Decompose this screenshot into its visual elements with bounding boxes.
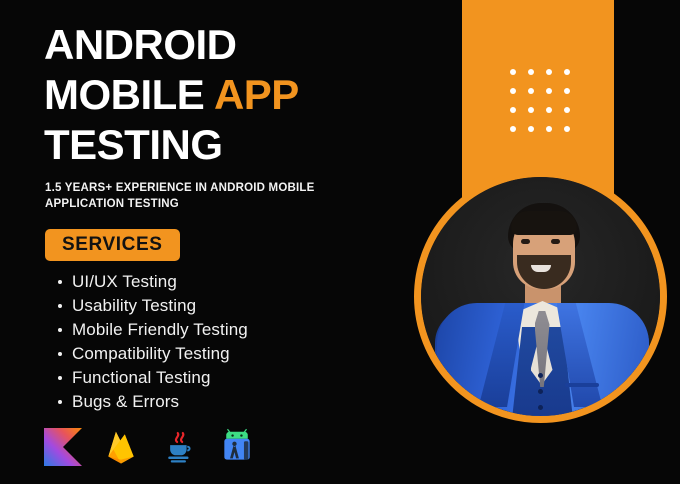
grid-dot <box>510 107 516 113</box>
mouth <box>531 265 551 272</box>
poster-canvas: ANDROID MOBILE APP TESTING 1.5 YEARS+ EX… <box>0 0 680 484</box>
grid-dot <box>564 88 570 94</box>
grid-dot <box>528 88 534 94</box>
grid-dot <box>564 69 570 75</box>
grid-dot <box>510 126 516 132</box>
hair-fringe <box>511 211 577 235</box>
list-item: Functional Testing <box>52 366 248 390</box>
services-badge: SERVICES <box>45 229 180 261</box>
eye-left <box>521 239 530 244</box>
page-title: ANDROID MOBILE APP TESTING <box>44 20 444 170</box>
jacket-pocket <box>565 383 599 387</box>
android-studio-icon <box>218 428 256 466</box>
grid-dot <box>528 107 534 113</box>
headline-line-1: ANDROID <box>44 20 444 70</box>
vest-button <box>538 405 543 410</box>
headline-line-2: MOBILE APP <box>44 70 444 120</box>
grid-dot <box>564 126 570 132</box>
grid-dot <box>510 69 516 75</box>
portrait-circle <box>414 170 667 423</box>
vest-button <box>538 389 543 394</box>
vest-button <box>538 373 543 378</box>
list-item: Compatibility Testing <box>52 342 248 366</box>
grid-dot <box>528 69 534 75</box>
list-item: Mobile Friendly Testing <box>52 318 248 342</box>
headline-line-3: TESTING <box>44 120 444 170</box>
dot-grid-decoration <box>504 62 576 138</box>
headline-line-2-white: MOBILE <box>44 71 214 118</box>
subtitle-text: 1.5 YEARS+ EXPERIENCE IN ANDROID MOBILE … <box>45 180 335 212</box>
eye-right <box>551 239 560 244</box>
grid-dot <box>546 69 552 75</box>
grid-dot <box>546 126 552 132</box>
services-list: UI/UX TestingUsability TestingMobile Fri… <box>52 270 248 414</box>
firebase-icon <box>102 428 140 466</box>
list-item: Usability Testing <box>52 294 248 318</box>
java-icon <box>160 428 198 466</box>
grid-dot <box>528 126 534 132</box>
grid-dot <box>546 107 552 113</box>
kotlin-icon <box>44 428 82 466</box>
portrait-photo <box>421 177 660 416</box>
tech-logo-row <box>44 428 256 466</box>
list-item: Bugs & Errors <box>52 390 248 414</box>
headline-line-2-accent: APP <box>214 71 299 118</box>
list-item: UI/UX Testing <box>52 270 248 294</box>
grid-dot <box>510 88 516 94</box>
grid-dot <box>564 107 570 113</box>
grid-dot <box>546 88 552 94</box>
